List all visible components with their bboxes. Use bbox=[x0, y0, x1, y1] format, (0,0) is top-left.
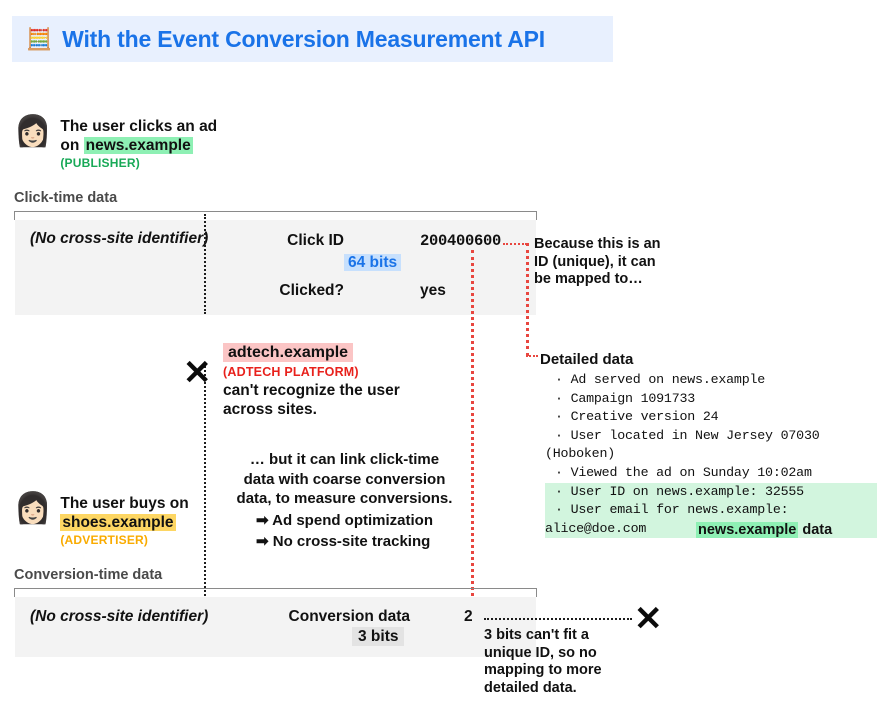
click-id-elbow-vertical bbox=[526, 243, 529, 356]
advertiser-site: shoes.example bbox=[60, 514, 175, 531]
conversion-time-databox bbox=[15, 597, 536, 657]
page-header-bar: 🧮 With the Event Conversion Measurement … bbox=[12, 16, 613, 62]
no-mapping-connector-line bbox=[484, 618, 632, 620]
detailed-data-item: Ad served on news.example bbox=[545, 371, 877, 390]
detailed-data-item: Creative version 24 bbox=[545, 408, 877, 427]
conversion-data-label: Conversion data bbox=[245, 608, 410, 626]
middle-note-line-2: data with coarse conversion bbox=[222, 470, 467, 490]
advertiser-line-2: shoes.example bbox=[60, 514, 188, 533]
publisher-persona: 👩🏻 The user clicks an ad on news.example… bbox=[14, 118, 274, 171]
click-id-elbow-top bbox=[503, 243, 527, 245]
no-mapping-line-1: 3 bits can't fit a bbox=[484, 627, 684, 645]
no-mapping-line-2: unique ID, so no bbox=[484, 645, 684, 663]
page-title: With the Event Conversion Measurement AP… bbox=[62, 26, 545, 53]
advertiser-line-1: The user buys on bbox=[60, 495, 188, 514]
publisher-on-prefix: on bbox=[60, 137, 83, 154]
detailed-data-footer-suffix: data bbox=[798, 522, 832, 538]
adtech-block: adtech.example (ADTECH PLATFORM) can't r… bbox=[223, 344, 483, 419]
mapped-callout-line-2: ID (unique), it can bbox=[534, 254, 714, 272]
click-id-bits-badge-label: 64 bits bbox=[344, 254, 401, 271]
advertiser-role: (ADVERTISER) bbox=[60, 532, 188, 548]
conversion-data-value: 2 bbox=[464, 608, 473, 626]
conversion-time-caption: Conversion-time data bbox=[14, 567, 162, 583]
conversion-time-bracket bbox=[14, 588, 537, 597]
detailed-data-item: User email for news.example: bbox=[545, 501, 877, 520]
publisher-site: news.example bbox=[84, 137, 193, 154]
mapped-callout-line-1: Because this is an bbox=[534, 236, 714, 254]
detailed-data-item: (Hoboken) bbox=[545, 445, 877, 464]
click-time-caption: Click-time data bbox=[14, 190, 117, 206]
middle-note-block: … but it can link click-time data with c… bbox=[222, 450, 467, 509]
detailed-data-footer-site: news.example bbox=[696, 522, 798, 538]
detailed-data-item: User located in New Jersey 07030 bbox=[545, 427, 877, 446]
advertiser-persona: 👩🏻 The user buys on shoes.example (ADVER… bbox=[14, 495, 244, 548]
user-avatar-icon: 👩🏻 bbox=[14, 495, 51, 523]
detailed-data-list: Ad served on news.exampleCampaign 109173… bbox=[545, 371, 877, 538]
detailed-data-title: Detailed data bbox=[540, 351, 633, 368]
mapped-callout: Because this is an ID (unique), it can b… bbox=[534, 236, 714, 289]
adtech-site-row: adtech.example bbox=[223, 344, 483, 362]
conversion-time-no-identifier: (No cross-site identifier) bbox=[30, 608, 208, 626]
detailed-data-item: Campaign 1091733 bbox=[545, 390, 877, 409]
detailed-data-item: Viewed the ad on Sunday 10:02am bbox=[545, 464, 877, 483]
cross-mark-adtech-icon: ✕ bbox=[183, 356, 212, 390]
publisher-line-1: The user clicks an ad bbox=[60, 118, 217, 137]
middle-note-line-1: … but it can link click-time bbox=[222, 450, 467, 470]
adtech-line-2: across sites. bbox=[223, 400, 483, 419]
publisher-divider-upper bbox=[204, 214, 206, 314]
click-id-label: Click ID bbox=[264, 232, 344, 250]
benefit-ad-spend: ➡ Ad spend optimization bbox=[256, 510, 433, 531]
adtech-role: (ADTECH PLATFORM) bbox=[223, 365, 483, 379]
publisher-role: (PUBLISHER) bbox=[60, 155, 217, 171]
clicked-label: Clicked? bbox=[264, 282, 344, 300]
click-id-elbow-bottom bbox=[526, 355, 538, 357]
user-avatar-icon: 👩🏻 bbox=[14, 118, 51, 146]
mapped-callout-line-3: be mapped to… bbox=[534, 271, 714, 289]
click-time-no-identifier: (No cross-site identifier) bbox=[30, 230, 208, 248]
publisher-line-2: on news.example bbox=[60, 137, 217, 156]
middle-note-line-3: data, to measure conversions. bbox=[222, 489, 467, 509]
click-id-connector-line bbox=[471, 250, 474, 626]
benefit-no-tracking: ➡ No cross-site tracking bbox=[256, 531, 430, 552]
conversion-bits-badge: 3 bits bbox=[352, 628, 404, 646]
abacus-icon: 🧮 bbox=[26, 29, 52, 50]
click-id-value: 200400600 bbox=[420, 232, 501, 250]
detailed-data-item: User ID on news.example: 32555 bbox=[545, 483, 877, 502]
no-mapping-line-4: detailed data. bbox=[484, 680, 684, 698]
adtech-site: adtech.example bbox=[223, 343, 353, 362]
detailed-data-footer: news.example data bbox=[696, 522, 832, 538]
no-mapping-callout: 3 bits can't fit a unique ID, so no mapp… bbox=[484, 627, 684, 697]
click-id-bits-badge: 64 bits bbox=[344, 254, 401, 272]
adtech-line-1: can't recognize the user bbox=[223, 381, 483, 400]
click-time-bracket bbox=[14, 211, 537, 220]
no-mapping-line-3: mapping to more bbox=[484, 662, 684, 680]
clicked-value: yes bbox=[420, 282, 446, 300]
conversion-bits-badge-label: 3 bits bbox=[352, 627, 404, 646]
